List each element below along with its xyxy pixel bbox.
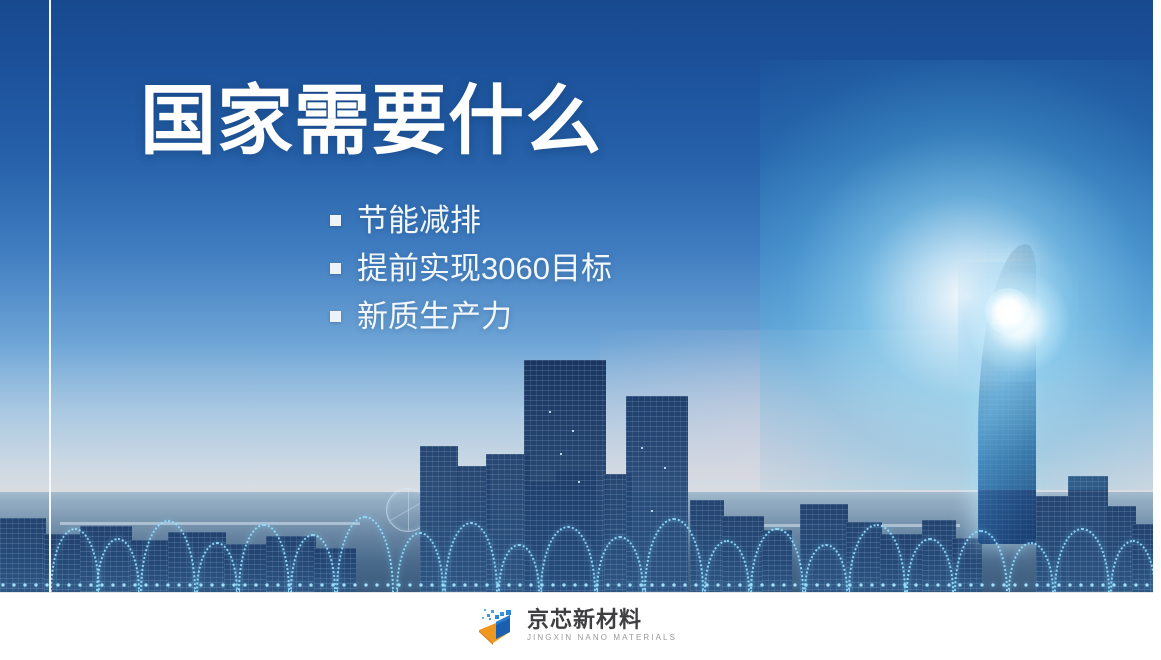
- list-item: 节能减排: [330, 196, 612, 244]
- square-bullet-icon: [330, 311, 341, 322]
- logo-name-cn: 京芯新材料: [527, 608, 677, 632]
- logo-wordmark: 京芯新材料 JINGXIN NANO MATERIALS: [527, 608, 677, 642]
- slide-bullet-list: 节能减排 提前实现3060目标 新质生产力: [330, 196, 612, 340]
- list-item: 新质生产力: [330, 292, 612, 340]
- square-bullet-icon: [330, 215, 341, 226]
- sun-glow: [760, 60, 1153, 490]
- vertical-accent-rule: [49, 0, 51, 592]
- slide-footer: 京芯新材料 JINGXIN NANO MATERIALS: [0, 592, 1153, 658]
- list-item-label: 节能减排: [357, 205, 481, 236]
- slide-headline: 国家需要什么: [140, 84, 602, 160]
- presentation-slide: 国家需要什么 节能减排 提前实现3060目标 新质生产力: [0, 0, 1161, 660]
- list-item-label: 新质生产力: [357, 301, 512, 332]
- list-item-label: 提前实现3060目标: [357, 253, 612, 284]
- logo-name-en: JINGXIN NANO MATERIALS: [527, 633, 677, 643]
- company-logo: 京芯新材料 JINGXIN NANO MATERIALS: [476, 606, 677, 646]
- sun-flare-core: [985, 288, 1031, 334]
- list-item: 提前实现3060目标: [330, 244, 612, 292]
- jingxin-pixel-cube-logo-icon: [476, 606, 518, 646]
- square-bullet-icon: [330, 263, 341, 274]
- slide-right-margin: [1153, 0, 1161, 660]
